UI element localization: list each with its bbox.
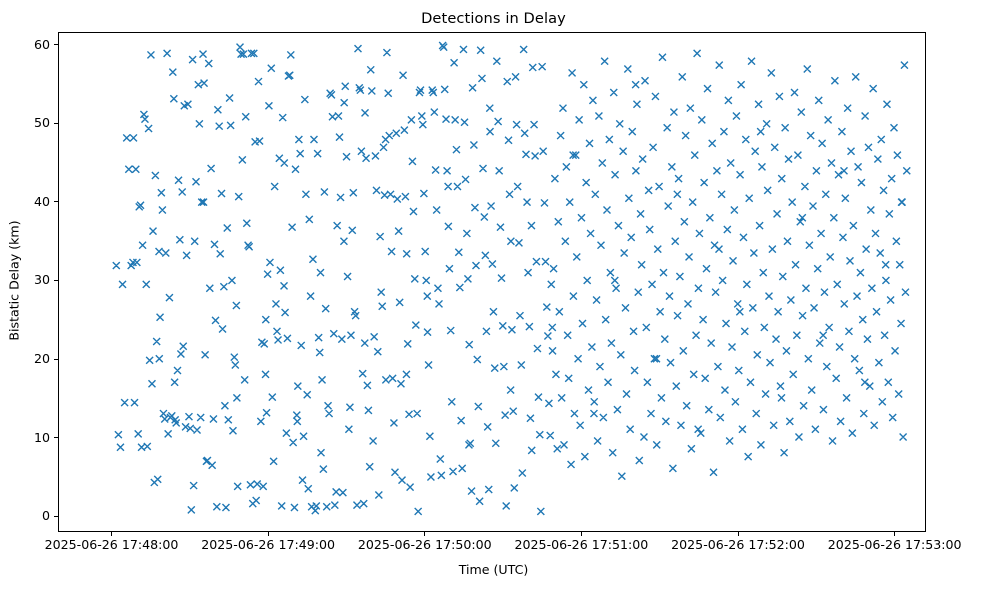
x-axis-label: Time (UTC) — [0, 562, 987, 577]
x-axis-tick-mark — [581, 532, 582, 536]
x-axis-tick-mark — [894, 532, 895, 536]
y-axis-tick-mark — [54, 201, 58, 202]
y-axis-tick-label: 0 — [42, 508, 50, 523]
y-axis-tick-label: 20 — [34, 351, 50, 366]
y-axis-tick-label: 60 — [34, 37, 50, 52]
x-axis-tick-label: 2025-06-26 17:50:00 — [358, 537, 492, 552]
y-axis-tick-mark — [54, 359, 58, 360]
y-axis-tick-label: 10 — [34, 430, 50, 445]
x-axis-tick-mark — [111, 532, 112, 536]
y-axis-tick-mark — [54, 44, 58, 45]
chart-title: Detections in Delay — [0, 10, 987, 27]
scatter-marker-path — [113, 42, 910, 515]
y-axis-tick-label: 40 — [34, 194, 50, 209]
plot-axes-area — [58, 32, 926, 532]
y-axis-tick-mark — [54, 516, 58, 517]
y-axis-tick-mark — [54, 280, 58, 281]
x-axis-tick-mark — [424, 532, 425, 536]
y-axis-tick-mark — [54, 123, 58, 124]
y-axis-tick-label: 30 — [34, 272, 50, 287]
x-axis-tick-mark — [268, 532, 269, 536]
y-axis-tick-label: 50 — [34, 115, 50, 130]
y-axis-label: Bistatic Delay (km) — [7, 71, 22, 491]
y-axis-tick-mark — [54, 437, 58, 438]
scatter-points-layer — [59, 33, 925, 531]
x-axis-tick-label: 2025-06-26 17:52:00 — [671, 537, 805, 552]
x-axis-tick-label: 2025-06-26 17:48:00 — [45, 537, 179, 552]
x-axis-tick-label: 2025-06-26 17:49:00 — [201, 537, 335, 552]
x-axis-tick-label: 2025-06-26 17:53:00 — [828, 537, 962, 552]
x-axis-tick-label: 2025-06-26 17:51:00 — [515, 537, 649, 552]
x-axis-tick-mark — [738, 532, 739, 536]
matplotlib-figure: Detections in Delay 01020304050602025-06… — [0, 0, 987, 590]
